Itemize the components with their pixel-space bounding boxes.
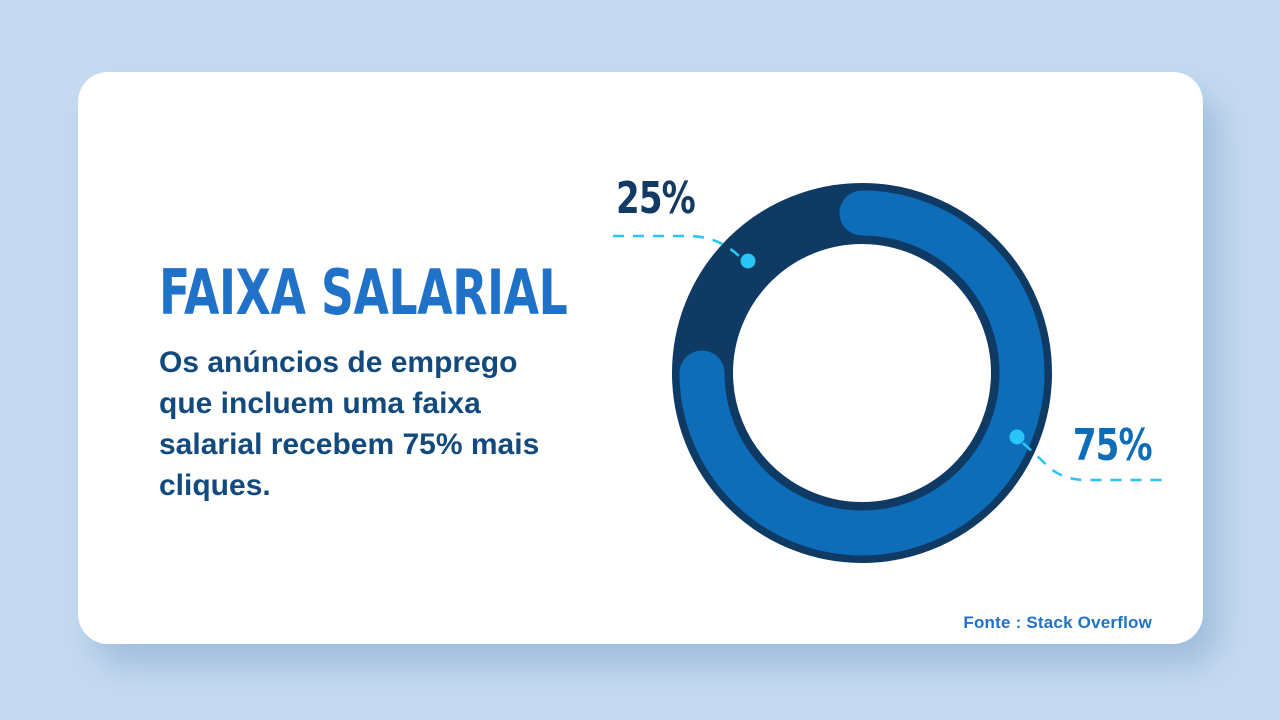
callout-label-25: 25% — [616, 177, 695, 221]
infographic-canvas: FAIXA SALARIAL Os anúncios de emprego qu… — [0, 0, 1280, 720]
page-title: FAIXA SALARIAL — [159, 262, 512, 324]
text-column: FAIXA SALARIAL Os anúncios de emprego qu… — [159, 262, 589, 506]
callout-label-75: 75% — [1073, 424, 1152, 468]
connector-dot-75 — [1010, 430, 1025, 445]
connector-dot-25 — [741, 254, 756, 269]
body-paragraph: Os anúncios de emprego que incluem uma f… — [159, 342, 579, 506]
source-note: Fonte : Stack Overflow — [963, 613, 1152, 633]
